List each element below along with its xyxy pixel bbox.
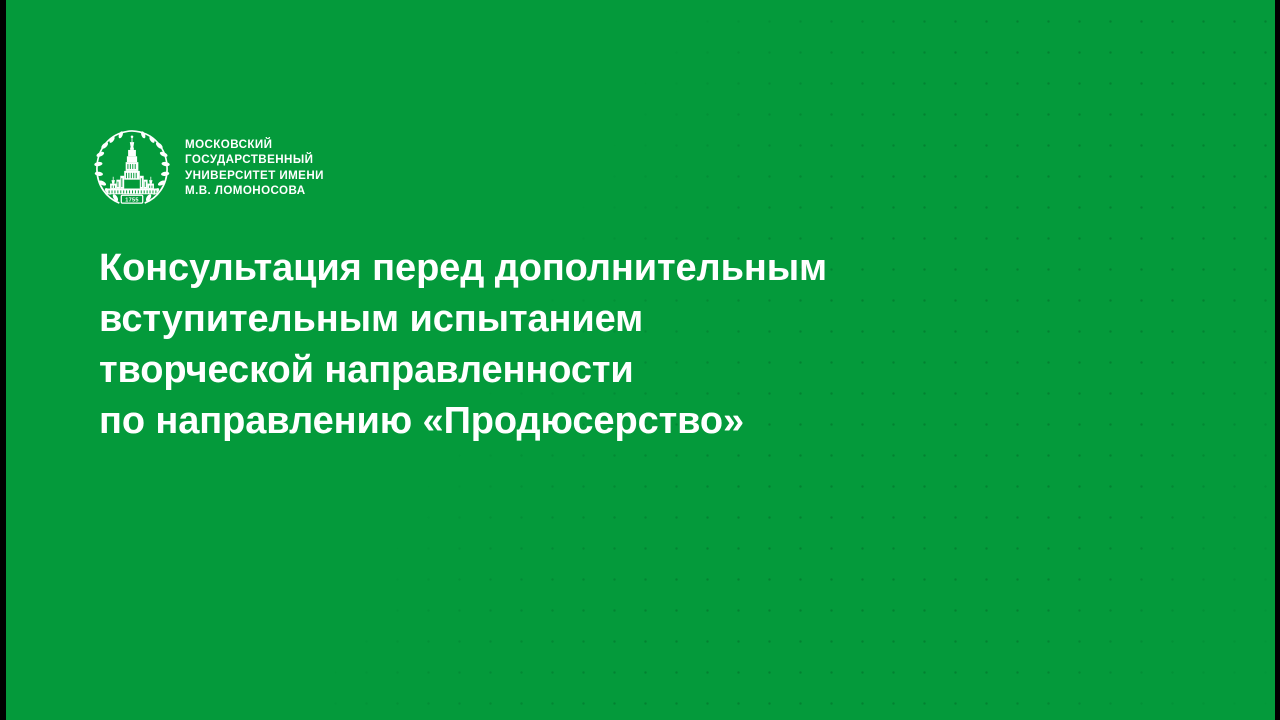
msu-logo-lockup: 1755 МОСКОВСКИЙ ГОСУДАРСТВЕННЫЙ УНИВЕРСИ… xyxy=(93,126,324,208)
title-line-2: вступительным испытанием xyxy=(99,294,1019,345)
msu-wordmark: МОСКОВСКИЙ ГОСУДАРСТВЕННЫЙ УНИВЕРСИТЕТ И… xyxy=(185,136,324,199)
wordmark-line-4: М.В. ЛОМОНОСОВА xyxy=(185,184,324,198)
wordmark-line-1: МОСКОВСКИЙ xyxy=(185,138,324,152)
emblem-year-ribbon: 1755 xyxy=(121,195,142,203)
slide-title: Консультация перед дополнительным вступи… xyxy=(99,243,1019,447)
presentation-slide: 1755 МОСКОВСКИЙ ГОСУДАРСТВЕННЫЙ УНИВЕРСИ… xyxy=(0,0,1280,720)
wordmark-line-2: ГОСУДАРСТВЕННЫЙ xyxy=(185,153,324,167)
letterbox-left xyxy=(0,0,6,720)
letterbox-right xyxy=(1275,0,1280,720)
title-line-1: Консультация перед дополнительным xyxy=(99,243,1019,294)
title-line-4: по направлению «Продюсерство» xyxy=(99,396,1019,447)
slide-stage: 1755 МОСКОВСКИЙ ГОСУДАРСТВЕННЫЙ УНИВЕРСИ… xyxy=(6,0,1276,720)
emblem-year-text: 1755 xyxy=(125,197,139,203)
wordmark-line-3: УНИВЕРСИТЕТ ИМЕНИ xyxy=(185,169,324,183)
msu-emblem-icon: 1755 xyxy=(93,126,171,208)
title-line-3: творческой направленности xyxy=(99,345,1019,396)
